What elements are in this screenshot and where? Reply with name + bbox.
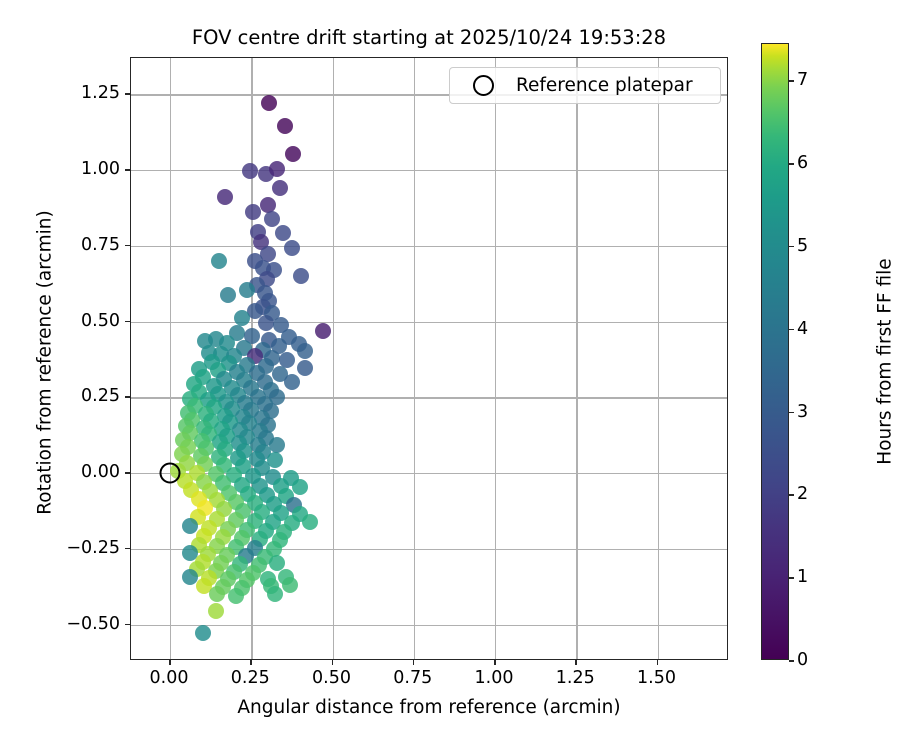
y-tick-label: −0.50 [120,614,174,634]
gridline-vertical [576,58,577,659]
scatter-point [234,310,250,326]
scatter-point [285,146,301,162]
colorbar-tick [789,246,794,248]
colorbar-tick [789,494,794,496]
y-tick-label: 0.00 [120,462,159,482]
y-axis-label: Rotation from reference (arcmin) [35,63,56,663]
colorbar-tick [789,412,794,414]
x-tick [169,660,171,665]
scatter-point [284,240,300,256]
reference-platepar-marker [160,463,181,484]
colorbar-tick [789,577,794,579]
colorbar-tick-label: 4 [797,319,808,339]
x-tick-label: 0.00 [150,668,189,688]
scatter-point [217,189,233,205]
y-tick-label: 1.25 [120,83,159,103]
x-tick [250,660,252,665]
colorbar-tick [789,163,794,165]
scatter-point [242,163,258,179]
x-tick-label: 1.50 [637,668,676,688]
colorbar-tick-label: 3 [797,402,808,422]
scatter-point [211,253,227,269]
scatter-point [228,588,244,604]
y-tick-label: 0.50 [120,311,159,331]
x-tick [413,660,415,665]
scatter-point [239,282,255,298]
scatter-point [277,118,293,134]
x-tick [575,660,577,665]
legend-marker-wrap [450,75,516,96]
scatter-point [261,95,277,111]
gridline-horizontal [131,246,727,247]
gridline-vertical [414,58,415,659]
scatter-point [209,586,225,602]
colorbar-tick [789,329,794,331]
x-tick [332,660,334,665]
colorbar-tick [789,660,794,662]
legend-item-label: Reference platepar [516,75,693,96]
y-tick-label: 0.75 [120,235,159,255]
colorbar-label: Hours from first FF file [875,62,896,662]
scatter-point [302,514,318,530]
scatter-point [269,161,285,177]
scatter-point [269,437,285,453]
chart-figure: FOV centre drift starting at 2025/10/24 … [0,0,900,750]
scatter-point [267,586,283,602]
scatter-point [220,287,236,303]
x-tick-label: 0.25 [231,668,270,688]
gridline-vertical [333,58,334,659]
x-tick-label: 0.75 [393,668,432,688]
colorbar-tick-label: 0 [797,650,808,670]
scatter-point [245,204,261,220]
x-axis-label: Angular distance from reference (arcmin) [130,697,728,718]
gridline-vertical [658,58,659,659]
colorbar-gradient [762,44,788,659]
scatter-point [292,479,308,495]
scatter-point [195,625,211,641]
colorbar-tick-label: 1 [797,567,808,587]
y-tick-label: 1.00 [120,159,159,179]
gridline-horizontal [131,170,727,171]
colorbar-tick-label: 7 [797,70,808,90]
y-tick-label: −0.25 [120,538,174,558]
gridline-vertical [495,58,496,659]
scatter-point [272,180,288,196]
gridline-horizontal [131,322,727,323]
colorbar-tick-label: 5 [797,236,808,256]
scatter-point [269,555,285,571]
x-tick-label: 1.00 [475,668,514,688]
scatter-point [282,577,298,593]
scatter-point [293,268,309,284]
colorbar-tick-label: 6 [797,153,808,173]
x-tick [494,660,496,665]
scatter-point [275,225,291,241]
scatter-point [297,343,313,359]
x-tick [657,660,659,665]
legend: Reference platepar [449,67,721,104]
colorbar-tick-label: 2 [797,484,808,504]
colorbar [761,43,789,660]
scatter-point [208,603,224,619]
page-title: FOV centre drift starting at 2025/10/24 … [130,26,728,49]
x-tick-label: 0.50 [312,668,351,688]
scatter-point [315,323,331,339]
gridline-vertical [170,58,171,659]
x-tick-label: 1.25 [556,668,595,688]
scatter-point [284,374,300,390]
colorbar-tick [789,80,794,82]
scatter-point [297,360,313,376]
scatter-point [264,211,280,227]
open-circle-icon [473,75,494,96]
scatter-plot-area [130,57,728,660]
y-tick-label: 0.25 [120,386,159,406]
gridline-horizontal [131,625,727,626]
